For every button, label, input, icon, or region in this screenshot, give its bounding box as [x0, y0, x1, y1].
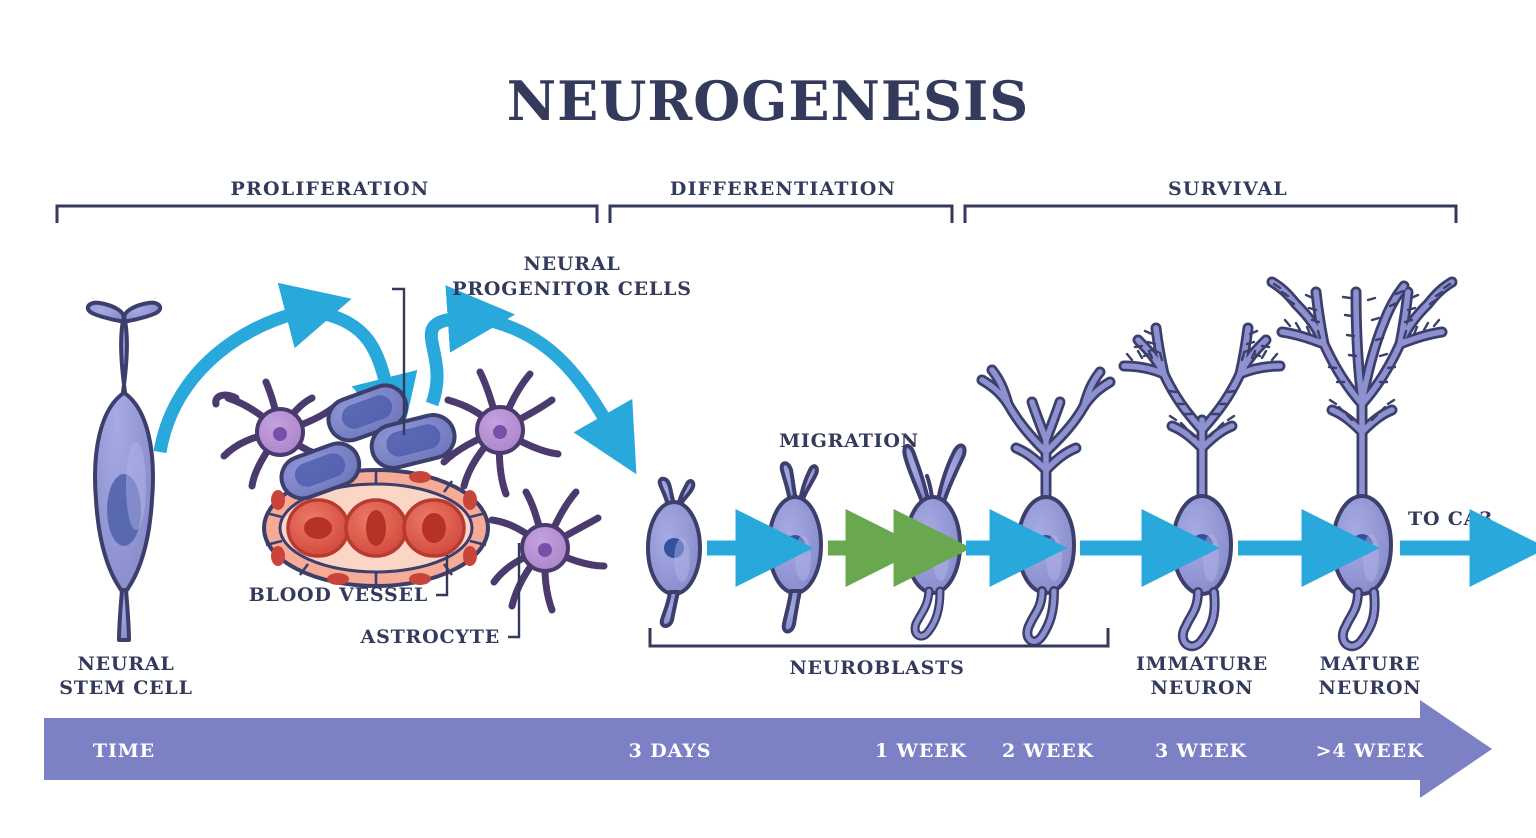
phase-differentiation: DIFFERENTIATION — [610, 178, 952, 223]
callout-astrocyte: ASTROCYTE — [360, 626, 500, 648]
nb2-tail — [784, 591, 800, 632]
mature-neuron-figure — [1272, 282, 1452, 646]
neuroblast-2 — [769, 463, 821, 631]
stage-label-neuroblasts: NEUROBLASTS — [789, 657, 964, 679]
nb1-highlight — [674, 538, 690, 582]
astro-1-nucleus — [273, 427, 287, 441]
timeline-label: TIME — [93, 740, 155, 762]
timeline-tick-3-days: 3 DAYS — [629, 740, 712, 762]
imm-highlight — [1203, 534, 1219, 582]
diagram-canvas: NEUROGENESIS PROLIFERATION DIFFERENTIATI… — [0, 0, 1536, 838]
stage-label-nsc-line1: NEURAL — [77, 653, 174, 675]
immature-neuron-figure — [1124, 328, 1280, 646]
phase-proliferation: PROLIFERATION — [57, 178, 597, 223]
stage-label-mature-line2: NEURON — [1319, 677, 1422, 699]
neuroblast-4 — [982, 370, 1110, 641]
nb3-process-a — [904, 446, 928, 502]
nb4-dendrite — [982, 370, 1110, 500]
arc-arrow-2 — [316, 312, 388, 392]
arc-arrow-3 — [431, 318, 462, 404]
neuroblast-3 — [904, 445, 964, 636]
astro-3-nucleus — [538, 543, 552, 557]
phase-survival: SURVIVAL — [965, 178, 1456, 223]
phase-bracket — [965, 206, 1456, 223]
phase-label: SURVIVAL — [1168, 178, 1288, 200]
neurogenesis-diagram: NEUROGENESIS PROLIFERATION DIFFERENTIATI… — [0, 0, 1536, 838]
nb3-highlight — [933, 535, 949, 581]
neural-stem-cell-figure — [88, 297, 161, 641]
nb1-tail — [662, 592, 678, 626]
mat-highlight — [1363, 534, 1379, 582]
astrocyte-2 — [444, 372, 558, 494]
timeline-tick-1-week: 1 WEEK — [875, 740, 968, 762]
phase-label: DIFFERENTIATION — [670, 178, 896, 200]
phase-bracket — [57, 206, 597, 223]
nb4-highlight — [1046, 535, 1062, 581]
astro-2-nucleus — [493, 425, 507, 439]
phase-label: PROLIFERATION — [231, 178, 430, 200]
stage-label-immature-line2: NEURON — [1151, 677, 1254, 699]
callout-to-ca3: TO CA3 — [1408, 508, 1493, 530]
neuroblast-1 — [648, 479, 700, 626]
callout-migration: MIGRATION — [779, 430, 919, 452]
nsc-tail — [119, 590, 129, 640]
nb3-process-b — [938, 445, 965, 502]
timeline-bar — [44, 700, 1492, 798]
nb2-highlight — [795, 535, 811, 581]
nsc-highlight — [126, 442, 146, 530]
stage-label-immature-line1: IMMATURE — [1136, 653, 1268, 675]
red-blood-cells — [288, 500, 464, 556]
timeline-tick-2-week: 2 WEEK — [1002, 740, 1095, 762]
nsc-branch-right — [124, 303, 160, 322]
phase-bracket — [610, 206, 952, 223]
stage-label-mature-line1: MATURE — [1320, 653, 1421, 675]
timeline-tick-3-week: 3 WEEK — [1155, 740, 1248, 762]
nb2-process-b — [800, 466, 817, 502]
callout-progenitor-line1: NEURAL — [523, 253, 620, 275]
page-title: NEUROGENESIS — [507, 69, 1030, 133]
timeline-tick-4-week: >4 WEEK — [1316, 740, 1425, 762]
astrocyte-3 — [492, 492, 604, 610]
callout-progenitor-line2: PROGENITOR CELLS — [452, 278, 692, 300]
stage-label-nsc-line2: STEM CELL — [59, 677, 193, 699]
callout-blood-vessel: BLOOD VESSEL — [249, 584, 428, 606]
nsc-soma — [95, 316, 153, 594]
nsc-branch-left — [88, 303, 124, 322]
